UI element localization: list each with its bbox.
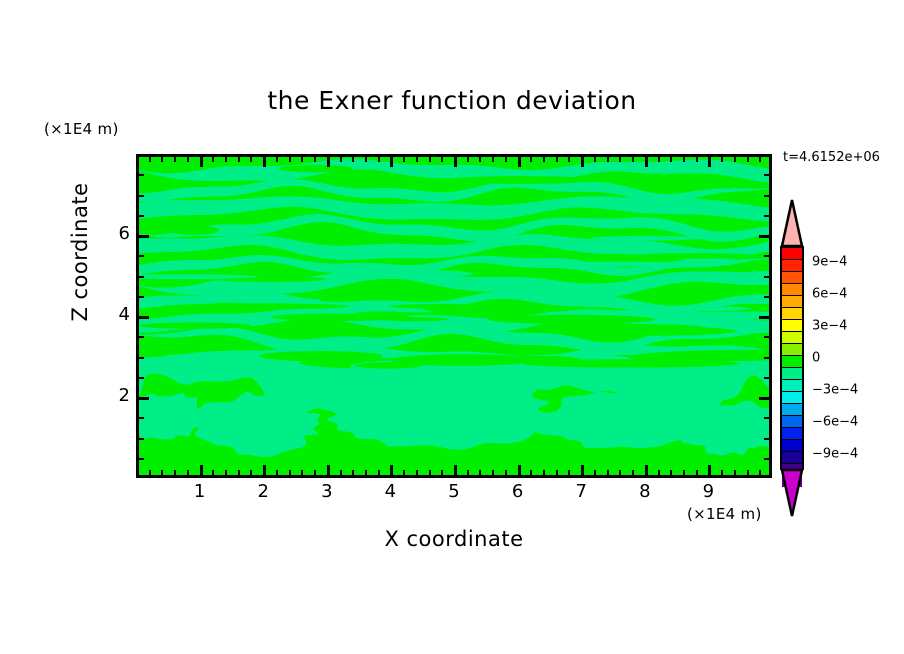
x-tick-label: 5	[439, 481, 469, 502]
colorbar-band	[782, 284, 802, 296]
colorbar-tick-label: 9e−4	[812, 255, 847, 270]
colorbar-band	[782, 452, 802, 464]
timestamp-annotation: t=4.6152e+06	[783, 150, 880, 165]
colorbar-band	[782, 296, 802, 308]
colorbar-tick-label: 3e−4	[812, 319, 847, 334]
colorbar-cap-top-icon	[780, 198, 804, 248]
page-title: the Exner function deviation	[0, 86, 904, 115]
colorbar-band	[782, 380, 802, 392]
colorbar-band	[782, 392, 802, 404]
colorbar-band	[782, 356, 802, 368]
colorbar-tick-label: −6e−4	[812, 415, 858, 430]
colorbar-band	[782, 344, 802, 356]
colorbar-bands	[780, 246, 804, 470]
y-tick-label: 4	[100, 304, 130, 325]
colorbar-band	[782, 440, 802, 452]
x-tick-label: 7	[566, 481, 596, 502]
colorbar-cap-bottom-icon	[780, 468, 804, 518]
colorbar-band	[782, 320, 802, 332]
x-axis-unit-label: (×1E4 m)	[687, 505, 762, 523]
x-tick-label: 1	[185, 481, 215, 502]
colorbar-tick-label: −9e−4	[812, 447, 858, 462]
x-tick-label: 8	[630, 481, 660, 502]
colorbar-band	[782, 368, 802, 380]
colorbar: 9e−46e−43e−40−3e−4−6e−4−9e−4	[780, 198, 804, 518]
colorbar-band	[782, 248, 802, 260]
colorbar-tick-label: −3e−4	[812, 383, 858, 398]
x-tick-label: 2	[248, 481, 278, 502]
colorbar-band	[782, 308, 802, 320]
x-tick-label: 3	[312, 481, 342, 502]
x-tick-label: 6	[503, 481, 533, 502]
colorbar-tick-label: 0	[812, 351, 820, 366]
y-tick-label: 6	[100, 223, 130, 244]
y-axis-title: Z coordinate	[68, 152, 92, 352]
x-tick-label: 4	[375, 481, 405, 502]
colorbar-band	[782, 404, 802, 416]
colorbar-band	[782, 260, 802, 272]
colorbar-band	[782, 428, 802, 440]
x-tick-label: 9	[693, 481, 723, 502]
chart-root: the Exner function deviation (×1E4 m) (×…	[0, 0, 904, 654]
y-tick-label: 2	[100, 385, 130, 406]
plot-area	[136, 154, 772, 478]
colorbar-band	[782, 272, 802, 284]
colorbar-band	[782, 332, 802, 344]
colorbar-tick-label: 6e−4	[812, 287, 847, 302]
y-axis-unit-label: (×1E4 m)	[44, 120, 119, 138]
x-axis-title: X coordinate	[136, 527, 772, 551]
contour-field	[139, 157, 769, 475]
colorbar-band	[782, 416, 802, 428]
